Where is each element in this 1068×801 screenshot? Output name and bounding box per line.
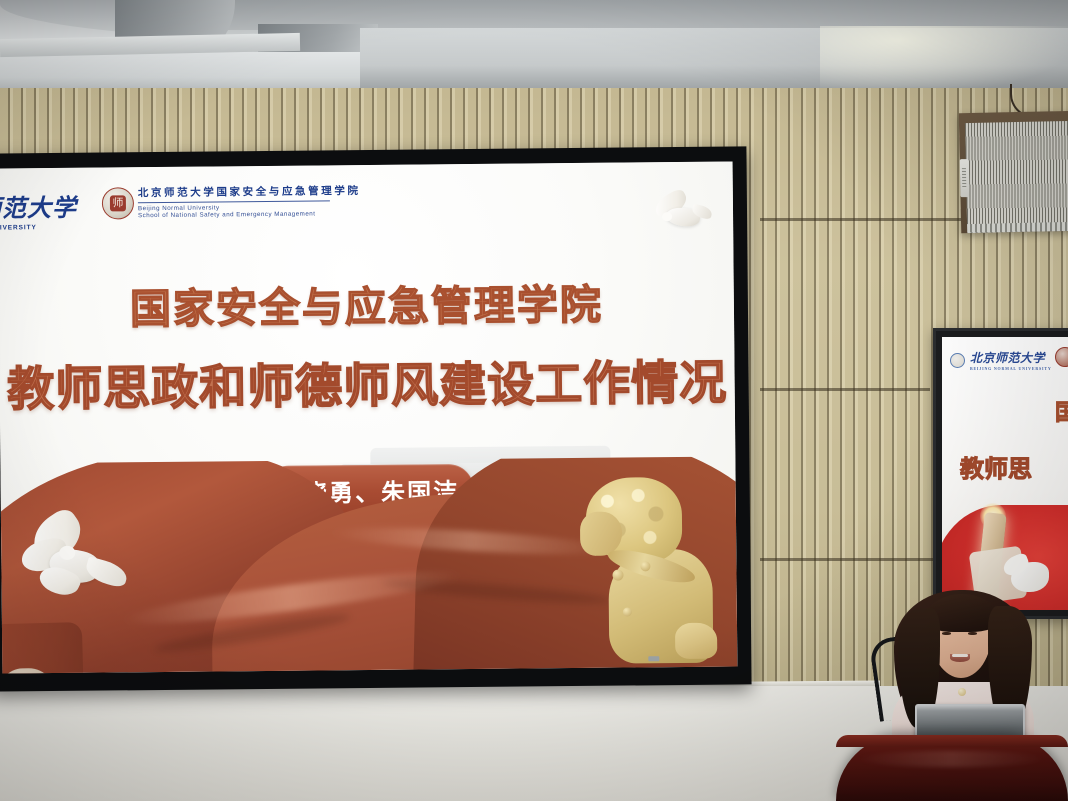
- institute-lockup: 北京师范大学国家安全与应急管理学院 Beijing Normal Univers…: [138, 183, 378, 219]
- dove-top-right-icon: [652, 194, 708, 239]
- presenter-eye-left: [942, 632, 951, 635]
- presenter-eye-right: [968, 632, 977, 635]
- dove-head: [662, 212, 672, 221]
- university-seal-icon: 师: [102, 187, 134, 219]
- wall-seam-2: [760, 388, 930, 391]
- presenter-necklace: [958, 688, 966, 696]
- bnu-logo-en: NORMAL UNIVERSITY: [0, 224, 88, 232]
- lion-bell-2: [640, 561, 650, 571]
- speaker-side-vent: [960, 159, 970, 197]
- monitor-title-fragment-2: 教师思: [960, 449, 1032, 484]
- monitor-slide-header: 北京师范大学BEIJING NORMAL UNIVERSITY: [950, 349, 1052, 371]
- dove-head-left: [59, 546, 75, 560]
- bnu-logo-cn: 京师范大学: [0, 188, 88, 224]
- seal-character: 师: [110, 195, 126, 211]
- wall-speaker: [959, 111, 1068, 233]
- podium-top-surface: [836, 735, 1068, 747]
- presentation-slide: 京师范大学 NORMAL UNIVERSITY 师 北京师范大学国家安全与应急管…: [0, 161, 737, 673]
- wall-seam-3: [760, 558, 940, 561]
- projection-screen-frame: 京师范大学 NORMAL UNIVERSITY 师 北京师范大学国家安全与应急管…: [0, 146, 752, 691]
- speaker-grille-icon: [965, 121, 1068, 225]
- confidence-monitor-screen: 北京师范大学BEIJING NORMAL UNIVERSITY 国 教师思: [942, 337, 1068, 610]
- dove-left-icon: [9, 515, 130, 608]
- slide-header: 京师范大学 NORMAL UNIVERSITY 师 北京师范大学国家安全与应急管…: [0, 175, 733, 240]
- monitor-slide: 北京师范大学BEIJING NORMAL UNIVERSITY 国 教师思: [942, 337, 1068, 610]
- golden-lion-statue: [578, 473, 730, 664]
- podium: [836, 735, 1068, 801]
- screen-status-led: [648, 656, 659, 661]
- projection-screen[interactable]: 京师范大学 NORMAL UNIVERSITY 师 北京师范大学国家安全与应急管…: [0, 161, 737, 673]
- slide-title-line-1: 国家安全与应急管理学院: [0, 269, 734, 336]
- red-column-left: [0, 622, 89, 674]
- podium-sheen: [856, 751, 1046, 767]
- institute-name-en-2: School of National Safety and Emergency …: [138, 210, 378, 219]
- dove-tail-left: [83, 556, 129, 588]
- institute-name-cn: 北京师范大学国家安全与应急管理学院: [138, 183, 378, 200]
- lion-bell-1: [612, 570, 623, 581]
- lion-bell-3: [623, 607, 632, 616]
- confidence-monitor[interactable]: 北京师范大学BEIJING NORMAL UNIVERSITY 国 教师思: [933, 328, 1068, 619]
- slide-title-line-2: 教师思政和师德师风建设工作情况: [0, 343, 735, 419]
- monitor-title-fragment-1: 国: [1055, 395, 1068, 427]
- monitor-callig-sub: BEIJING NORMAL UNIVERSITY: [970, 366, 1052, 371]
- monitor-seal-right-icon: [1055, 347, 1068, 367]
- bnu-calligraphy-logo: 京师范大学 NORMAL UNIVERSITY: [0, 188, 88, 233]
- monitor-seal-icon: [950, 353, 965, 368]
- presenter-mouth: [950, 654, 970, 662]
- lecture-hall-scene: 京师范大学 NORMAL UNIVERSITY 师 北京师范大学国家安全与应急管…: [0, 0, 1068, 801]
- lion-paw: [675, 623, 717, 659]
- monitor-callig: 北京师范大学BEIJING NORMAL UNIVERSITY: [970, 349, 1052, 371]
